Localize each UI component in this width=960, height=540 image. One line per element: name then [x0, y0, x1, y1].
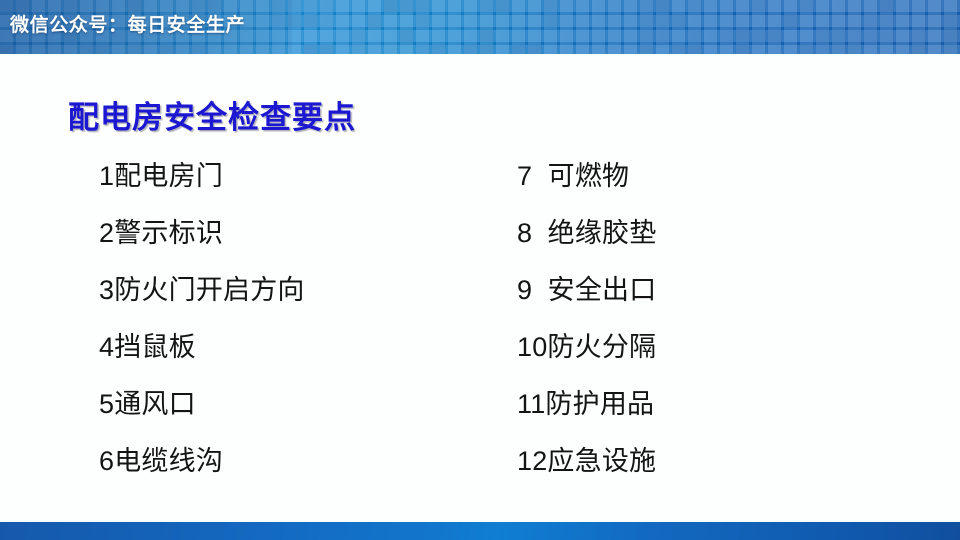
list-item: 7 可燃物	[517, 148, 656, 205]
list-item: 1配电房门	[99, 148, 305, 205]
top-banner: 微信公众号：每日安全生产	[0, 0, 960, 54]
list-item: 5通风口	[99, 376, 305, 433]
footer-bar	[0, 522, 960, 540]
list-item: 10防火分隔	[517, 319, 656, 376]
list-item: 6电缆线沟	[99, 433, 305, 490]
checklist-column-left: 1配电房门 2警示标识 3防火门开启方向 4挡鼠板 5通风口 6电缆线沟	[99, 148, 305, 490]
checklist: 1配电房门 2警示标识 3防火门开启方向 4挡鼠板 5通风口 6电缆线沟 7 可…	[0, 148, 960, 508]
list-item: 8 绝缘胶垫	[517, 205, 656, 262]
list-item: 9 安全出口	[517, 262, 656, 319]
list-item: 11防护用品	[517, 376, 656, 433]
list-item: 2警示标识	[99, 205, 305, 262]
list-item: 4挡鼠板	[99, 319, 305, 376]
checklist-column-right: 7 可燃物 8 绝缘胶垫 9 安全出口 10防火分隔 11防护用品 12应急设施	[517, 148, 656, 490]
page-title: 配电房安全检查要点	[68, 92, 356, 137]
list-item: 3防火门开启方向	[99, 262, 305, 319]
list-item: 12应急设施	[517, 433, 656, 490]
wechat-account-caption: 微信公众号：每日安全生产	[10, 0, 245, 54]
